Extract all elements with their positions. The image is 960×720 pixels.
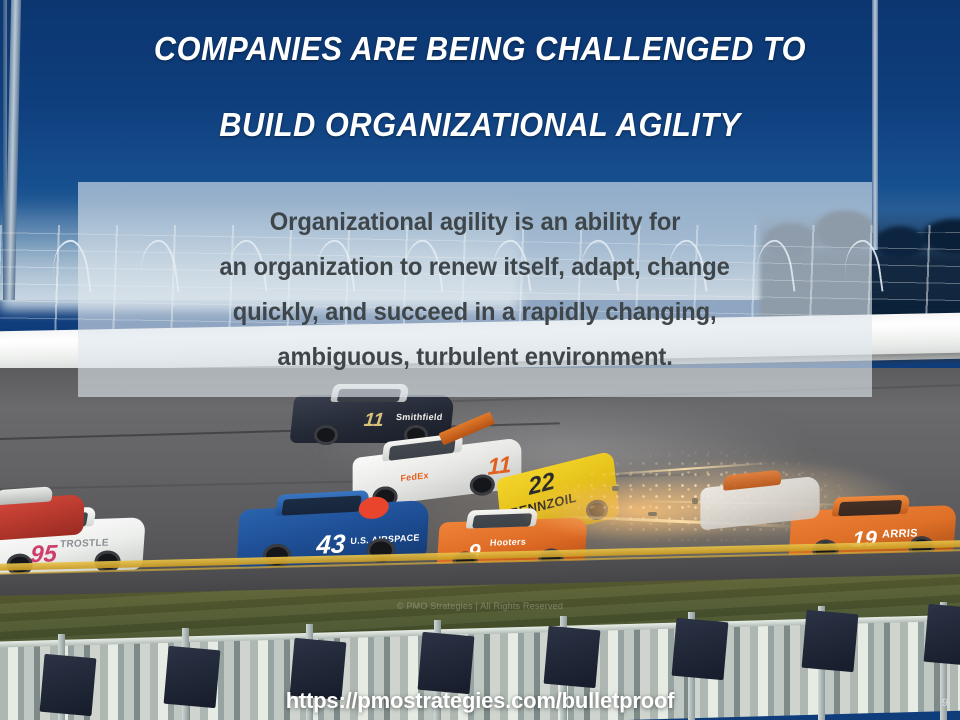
footer-url-bar: https://pmostrategies.com/bulletproof [0,688,960,714]
debris-piece [692,498,698,504]
barrier-flag-panel [924,604,960,666]
quote-line-3: quickly, and succeed in a rapidly changi… [233,290,717,335]
barrier-flag-panel [802,610,859,672]
barrier-flag-panel [544,626,601,688]
debris-piece [612,486,619,491]
presentation-slide: Smithfield 11 11 FedEx 43 U.S. AIRSPACE [0,0,960,720]
quote-line-2: an organization to renew itself, adapt, … [220,245,730,290]
barrier-flag-panel [672,618,729,680]
race-car-partial-left [0,494,85,542]
quote-line-4: ambiguous, turbulent environment. [277,335,672,380]
quote-callout-box: Organizational agility is an ability for… [78,182,872,397]
mast-pole-icon [872,0,878,250]
barrier-flag-panel [418,632,475,694]
page-number: 9 [942,697,948,709]
website-url[interactable]: https://pmostrategies.com/bulletproof [286,688,675,713]
debris-piece [648,512,657,516]
quote-line-1: Organizational agility is an ability for [270,200,681,245]
copyright-watermark: © PMO Strategies | All Rights Reserved [0,601,960,611]
